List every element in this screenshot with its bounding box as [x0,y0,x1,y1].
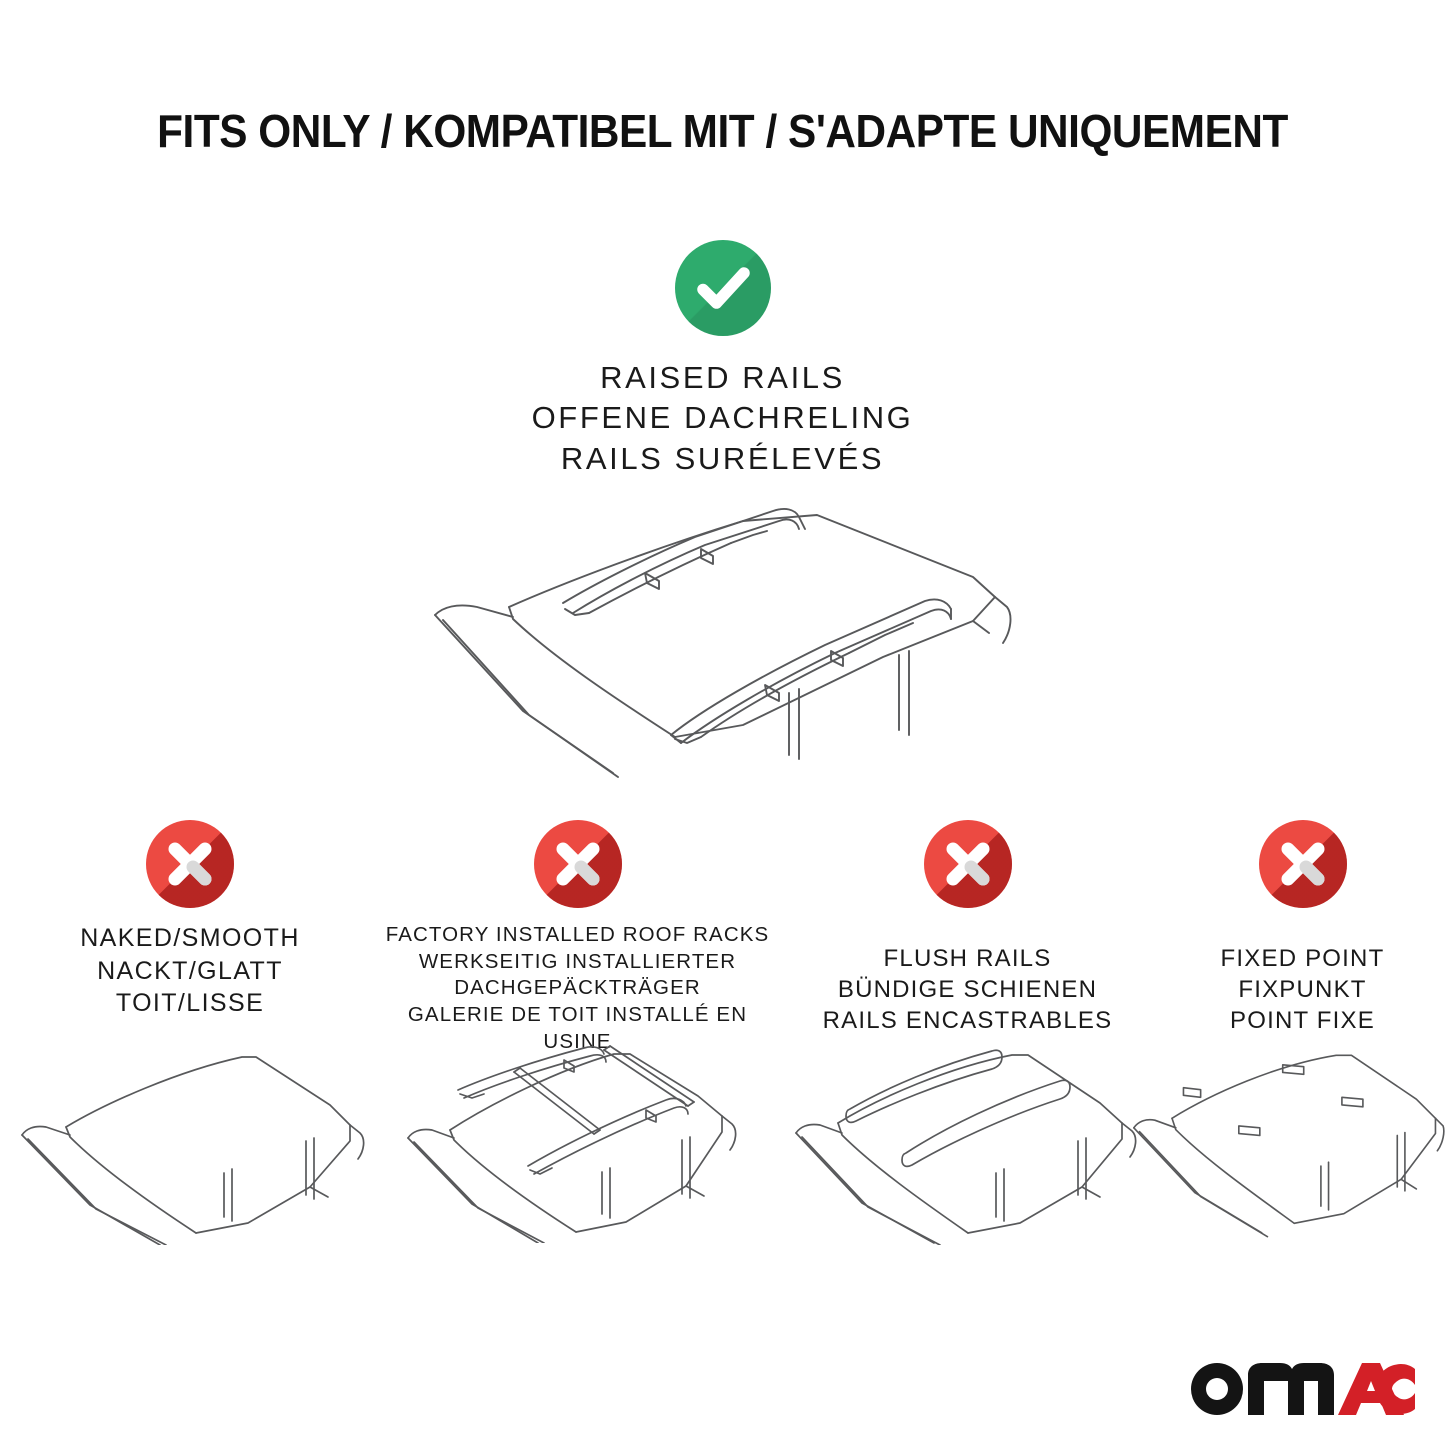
compatible-label-line-3: RAILS SURÉLEVÉS [0,439,1445,479]
factory-racks-line-1: FACTORY INSTALLED ROOF RACKS [380,922,775,949]
naked-smooth-icon-wrap [0,820,380,908]
factory-racks-line-3: DACHGEPÄCKTRÄGER [380,975,775,1002]
flush-rails-line-1: FLUSH RAILS [775,943,1160,974]
compatible-label: RAISED RAILS OFFENE DACHRELING RAILS SUR… [0,358,1445,479]
naked-smooth-illustration [0,1045,380,1245]
naked-smooth-line-2: NACKT/GLATT [0,955,380,988]
red-x-circle-icon [534,820,622,908]
flush-rails-illustration [775,1045,1160,1245]
red-x-circle-icon [924,820,1012,908]
fixed-point-line-3: POINT FIXE [1160,1005,1445,1036]
compatible-section: RAISED RAILS OFFENE DACHRELING RAILS SUR… [0,240,1445,479]
fixed-point-label: FIXED POINT FIXPUNKT POINT FIXE [1160,943,1445,1037]
incompatible-section: NAKED/SMOOTH NACKT/GLATT TOIT/LISSE [0,820,1445,1055]
red-x-circle-icon [146,820,234,908]
fitment-compatibility-infographic: FITS ONLY / KOMPATIBEL MIT / S'ADAPTE UN… [0,0,1445,1445]
factory-racks-label: FACTORY INSTALLED ROOF RACKS WERKSEITIG … [380,922,775,1055]
page-title: FITS ONLY / KOMPATIBEL MIT / S'ADAPTE UN… [58,104,1387,158]
naked-smooth-label: NAKED/SMOOTH NACKT/GLATT TOIT/LISSE [0,922,380,1020]
compatible-label-line-1: RAISED RAILS [0,358,1445,398]
omac-logo [1190,1355,1415,1423]
incompatible-item-flush-rails: FLUSH RAILS BÜNDIGE SCHIENEN RAILS ENCAS… [775,820,1160,1055]
factory-racks-line-2: WERKSEITIG INSTALLIERTER [380,949,775,976]
flush-rails-label: FLUSH RAILS BÜNDIGE SCHIENEN RAILS ENCAS… [775,943,1160,1037]
green-check-circle-icon [675,240,771,336]
naked-smooth-line-1: NAKED/SMOOTH [0,922,380,955]
fixed-point-illustration [1130,1045,1445,1245]
fixed-point-line-2: FIXPUNKT [1160,974,1445,1005]
factory-racks-icon-wrap [380,820,775,908]
fixed-point-line-1: FIXED POINT [1160,943,1445,974]
red-x-circle-icon [1259,820,1347,908]
naked-smooth-line-3: TOIT/LISSE [0,987,380,1020]
factory-racks-illustration [380,1038,775,1243]
compatible-label-line-2: OFFENE DACHRELING [0,398,1445,438]
raised-rails-illustration [0,485,1445,785]
incompatible-item-factory-racks: FACTORY INSTALLED ROOF RACKS WERKSEITIG … [380,820,775,1055]
flush-rails-line-2: BÜNDIGE SCHIENEN [775,974,1160,1005]
incompatible-item-fixed-point: FIXED POINT FIXPUNKT POINT FIXE [1160,820,1445,1055]
flush-rails-icon-wrap [775,820,1160,908]
compatible-icon-wrap [0,240,1445,336]
flush-rails-line-3: RAILS ENCASTRABLES [775,1005,1160,1036]
fixed-point-icon-wrap [1160,820,1445,908]
incompatible-item-naked-smooth: NAKED/SMOOTH NACKT/GLATT TOIT/LISSE [0,820,380,1055]
